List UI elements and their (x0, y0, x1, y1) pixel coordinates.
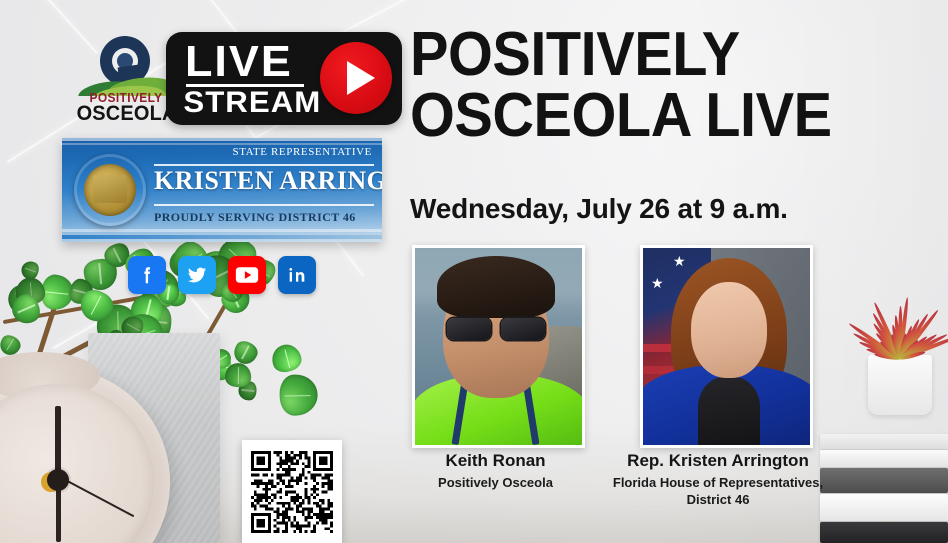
logo-osceola-text: OSCEOLA (77, 102, 176, 126)
linkedin-icon[interactable] (278, 256, 316, 294)
banner-subtitle: PROUDLY SERVING DISTRICT 46 (154, 210, 356, 225)
keith-ronan-photo (412, 245, 585, 448)
clock-face (0, 384, 154, 543)
florida-house-seal-icon (74, 154, 146, 226)
guest-caption: Keith Ronan Positively Osceola (412, 450, 579, 508)
book-item (820, 494, 948, 521)
book-item (820, 468, 948, 493)
kristen-arrington-banner: STATE REPRESENTATIVE KRISTEN ARRINGTON P… (62, 138, 382, 242)
live-stream-badge: LIVE STREAM (166, 32, 402, 125)
livestream-promo-graphic: POSITIVELY OSCEOLA LIVE STREAM STATE REP… (0, 0, 948, 543)
clock-hub (47, 469, 69, 491)
title-line-2: OSCEOLA LIVE (410, 85, 903, 146)
event-date: Wednesday, July 26 at 9 a.m. (410, 193, 788, 225)
guest-captions: Keith Ronan Positively Osceola Rep. Kris… (412, 450, 834, 508)
book-item (820, 522, 948, 543)
live-text: LIVE (185, 40, 293, 84)
guest-caption: Rep. Kristen Arrington Florida House of … (602, 450, 834, 508)
red-spike-plant (868, 355, 932, 415)
guest-name: Rep. Kristen Arrington (602, 450, 834, 472)
guest-role: Florida House of Representatives, Distri… (602, 474, 834, 508)
kristen-arrington-photo: ★ ★ ★ (640, 245, 813, 448)
qr-code[interactable] (242, 440, 342, 543)
guest-photos: ★ ★ ★ (412, 245, 813, 448)
banner-eyebrow: STATE REPRESENTATIVE (233, 146, 373, 158)
facebook-icon[interactable] (128, 256, 166, 294)
clock-second-hand (58, 475, 135, 517)
twitter-icon[interactable] (178, 256, 216, 294)
page-title: POSITIVELY OSCEOLA LIVE (410, 24, 903, 146)
sunglasses (447, 318, 545, 340)
play-button-icon[interactable] (320, 42, 392, 114)
positively-osceola-logo: POSITIVELY OSCEOLA (74, 36, 178, 120)
guest-role: Positively Osceola (412, 474, 579, 491)
title-line-1: POSITIVELY (410, 24, 903, 85)
social-links (128, 256, 316, 294)
book-stack (820, 413, 948, 543)
guest-name: Keith Ronan (412, 450, 579, 472)
youtube-icon[interactable] (228, 256, 266, 294)
stream-text: STREAM (183, 86, 321, 120)
banner-name: KRISTEN ARRINGTON (154, 166, 374, 196)
book-item (820, 434, 948, 449)
book-item (820, 450, 948, 467)
qr-code-graphic (251, 451, 333, 533)
